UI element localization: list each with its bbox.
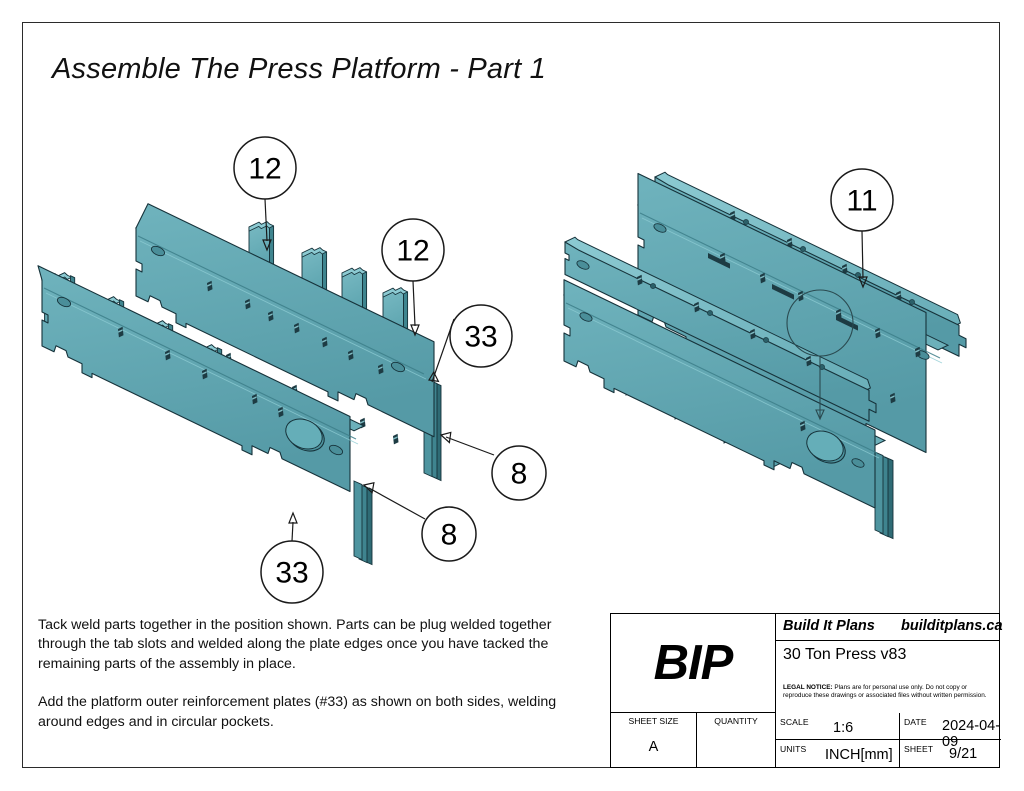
balloon-8-upper-label: 8 bbox=[511, 458, 528, 491]
scale-label: SCALE bbox=[780, 717, 809, 727]
balloon-12-mid-label: 12 bbox=[396, 235, 429, 268]
project-name: 30 Ton Press v83 bbox=[783, 646, 906, 664]
date-label: DATE bbox=[904, 717, 927, 727]
balloon-11-right-label: 11 bbox=[846, 185, 877, 218]
title-block-fields: SHEET SIZE A QUANTITY SCALE 1:6 UNITS IN… bbox=[611, 713, 999, 767]
logo-bip: BIP bbox=[611, 614, 776, 713]
legal-notice-label: LEGAL NOTICE: bbox=[783, 684, 833, 691]
assembly-svg: 12 12 33 8 8 bbox=[30, 105, 995, 605]
scale-value: 1:6 bbox=[833, 720, 853, 736]
balloon-33-lower-label: 33 bbox=[275, 557, 308, 590]
note-paragraph-1: Tack weld parts together in the position… bbox=[38, 616, 598, 674]
exploded-assembly-left bbox=[38, 204, 441, 565]
brand-row: Build It Plans builditplans.ca bbox=[776, 614, 999, 641]
balloon-11-right[interactable]: 11 bbox=[831, 169, 893, 231]
balloon-33-upper-label: 33 bbox=[464, 321, 497, 354]
balloon-8-lower-label: 8 bbox=[441, 519, 458, 552]
leader-12-mid bbox=[413, 281, 415, 326]
balloon-8-lower[interactable]: 8 bbox=[422, 507, 476, 561]
field-scale: SCALE 1:6 bbox=[776, 713, 900, 740]
balloon-33-lower[interactable]: 33 bbox=[261, 541, 323, 603]
assembly-notes: Tack weld parts together in the position… bbox=[38, 616, 598, 732]
title-block: BIP Build It Plans builditplans.ca 30 To… bbox=[610, 613, 1000, 768]
page-title: Assemble The Press Platform - Part 1 bbox=[52, 47, 672, 91]
balloon-12-mid[interactable]: 12 bbox=[382, 219, 444, 281]
field-sheet-size: SHEET SIZE A bbox=[611, 713, 697, 767]
balloon-33-upper[interactable]: 33 bbox=[450, 305, 512, 367]
logo-text: BIP bbox=[654, 639, 733, 688]
exploded-assembly-right bbox=[564, 172, 966, 538]
balloon-12-left-label: 12 bbox=[248, 153, 281, 186]
balloon-12-left[interactable]: 12 bbox=[234, 137, 296, 199]
drawing-sheet: Assemble The Press Platform - Part 1 bbox=[0, 0, 1024, 791]
sheet-value: 9/21 bbox=[949, 746, 977, 762]
brand-name: Build It Plans bbox=[783, 618, 875, 634]
legal-notice: LEGAL NOTICE: Plans are for personal use… bbox=[783, 684, 994, 701]
field-units: UNITS INCH[mm] bbox=[776, 740, 900, 767]
assembly-illustration: 12 12 33 8 8 bbox=[30, 105, 995, 605]
field-quantity: QUANTITY bbox=[697, 713, 776, 767]
sheet-size-label: SHEET SIZE bbox=[611, 716, 696, 726]
brand-website[interactable]: builditplans.ca bbox=[901, 618, 1003, 634]
leader-8-upper bbox=[446, 437, 494, 455]
quantity-label: QUANTITY bbox=[697, 716, 775, 726]
sheet-size-value: A bbox=[611, 739, 696, 755]
title-block-header: Build It Plans builditplans.ca 30 Ton Pr… bbox=[776, 614, 999, 713]
field-date: DATE 2024-04-09 bbox=[900, 713, 1001, 740]
leader-33-lower bbox=[292, 522, 293, 541]
sheet-label: SHEET bbox=[904, 744, 933, 754]
field-sheet: SHEET 9/21 bbox=[900, 740, 1001, 767]
units-value: INCH[mm] bbox=[825, 747, 893, 763]
units-label: UNITS bbox=[780, 744, 806, 754]
leader-8-lower bbox=[369, 488, 425, 519]
note-paragraph-2: Add the platform outer reinforcement pla… bbox=[38, 693, 598, 732]
balloon-8-upper[interactable]: 8 bbox=[492, 446, 546, 500]
